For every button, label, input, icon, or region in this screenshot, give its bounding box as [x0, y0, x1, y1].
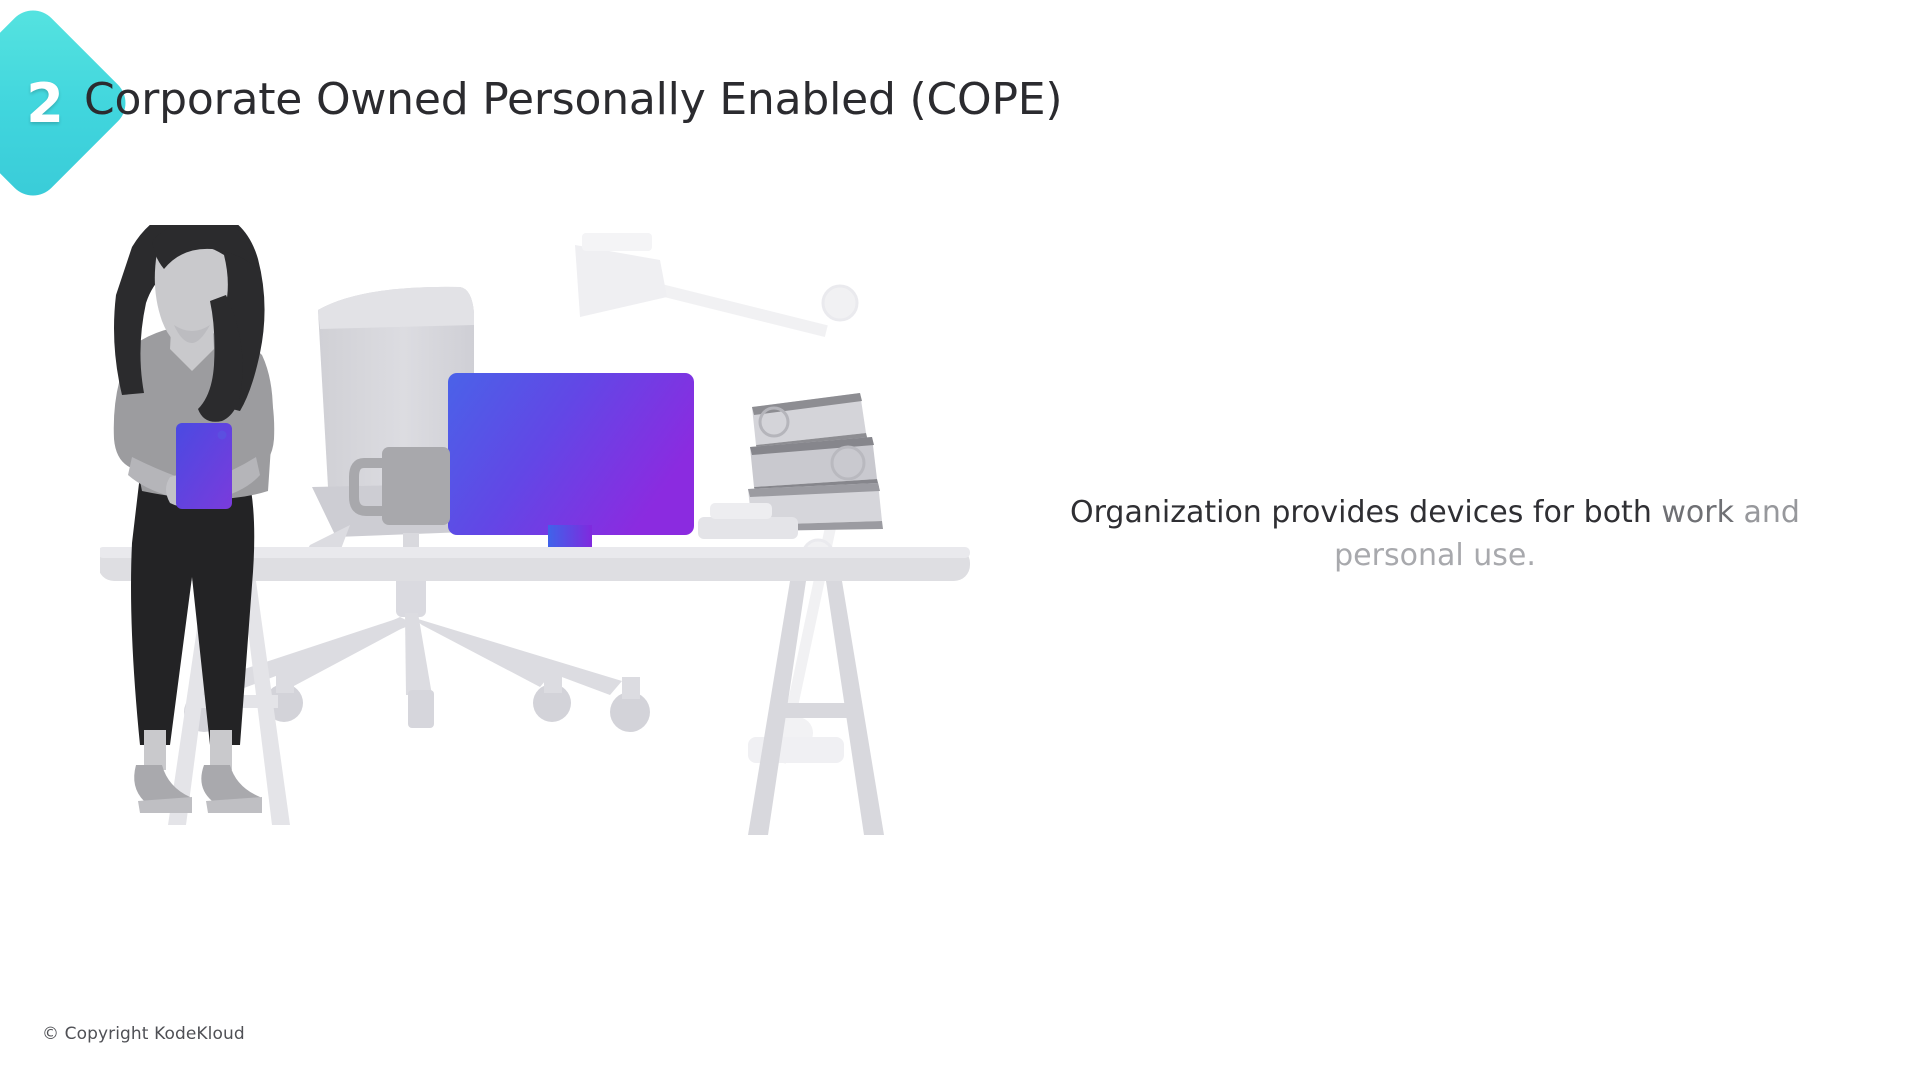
illustration-svg [100, 225, 1010, 945]
woman-shoes [134, 765, 262, 813]
page-title: Corporate Owned Personally Enabled (COPE… [84, 74, 1584, 125]
smartphone-icon [176, 423, 232, 509]
copyright-footer: © Copyright KodeKloud [42, 1024, 245, 1044]
body-text-segment-4: personal use. [1334, 538, 1536, 573]
body-text-segment-3: and [1744, 495, 1800, 530]
body-text-segment-1: Organization provides devices for both [1070, 495, 1661, 530]
illustration-woman-with-phone-at-desk [100, 225, 1010, 945]
body-paragraph: Organization provides devices for both w… [1040, 492, 1830, 577]
slide-root: 2 Corporate Owned Personally Enabled (CO… [0, 0, 1920, 1080]
book-stack-icon [698, 393, 883, 539]
slide-header: 2 Corporate Owned Personally Enabled (CO… [0, 0, 1920, 210]
body-text-segment-2: work [1661, 495, 1734, 530]
